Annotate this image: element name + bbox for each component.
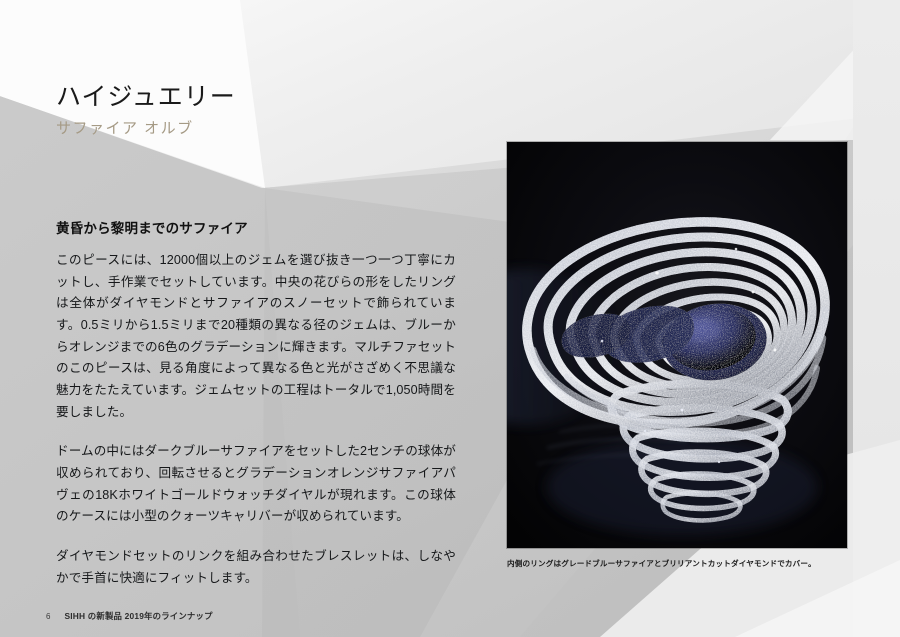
body-heading: 黄昏から黎明までのサファイア [56,217,456,237]
footer-text: SIHH の新製品 2019年のラインナップ [64,610,212,622]
photo-caption: 内側のリングはグレードブルーサファイアとブリリアントカットダイヤモンドでカバー。 [507,558,867,569]
body-paragraph-1: このピースには、12000個以上のジェムを選び抜き一つ一つ丁寧にカットし、手作業… [56,250,456,423]
body-paragraph-2: ドームの中にはダークブルーサファイアをセットした2センチの球体が収められており、… [56,441,456,528]
page-title: ハイジュエリー [56,82,236,113]
page-subtitle: サファイア オルブ [56,119,236,139]
jewelry-illustration [507,142,847,548]
page-number: 6 [46,612,50,621]
body-copy-block: 黄昏から黎明までのサファイア このピースには、12000個以上のジェムを選び抜き… [56,217,456,589]
footer: 6 SIHH の新製品 2019年のラインナップ [46,610,213,622]
sapphire-orb-photo [507,142,847,548]
body-paragraph-3: ダイヤモンドセットのリンクを組み合わせたブレスレットは、しなやかで手首に快適にフ… [56,546,456,589]
title-block: ハイジュエリー サファイア オルブ [56,82,236,139]
slide-canvas: ハイジュエリー サファイア オルブ 黄昏から黎明までのサファイア このピースには… [0,0,900,637]
